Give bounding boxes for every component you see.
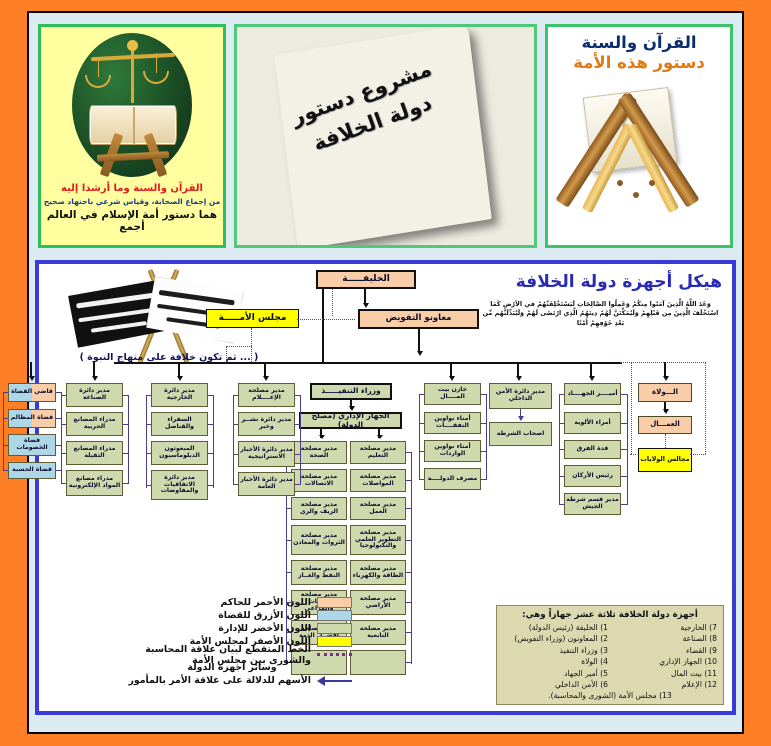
node-foreign-item-2[interactable]: مدير دائرة الاتفاقيات والمفاوضات <box>151 470 208 500</box>
node-jihad-head[interactable]: أميــــر الجهــــاد <box>564 383 621 405</box>
idari-rbus-1 <box>406 480 412 481</box>
legend-row-arrow: الأسهم للدلالة على علاقة الأمر بالمأمور <box>112 674 352 687</box>
scales-knob <box>127 40 138 51</box>
node-jihaz-idari[interactable]: الجهاز الإداري (مصلح الدولة) <box>299 412 402 429</box>
color-legend: اللون الأحمر للحاكم اللون الأزرق للقضاة … <box>112 596 352 687</box>
node-media-item-2[interactable]: مدير دائرة الأخبار العامة <box>238 472 295 496</box>
judiciary-right-bus <box>61 392 62 471</box>
scales-string-left <box>156 53 157 73</box>
judiciary-rbus-2 <box>56 445 62 446</box>
right-panel-title-1: القرآن والسنة <box>581 33 696 52</box>
baytmal-bus-h2 <box>481 451 487 452</box>
idari-lbus-4 <box>286 572 291 573</box>
agencies-legend: أجهزة دولة الخلافة ثلاثة عشر جهازاً وهي:… <box>496 605 724 705</box>
legend-swatch-judges <box>317 610 352 621</box>
node-industry-item-2[interactable]: مدراء مصانع المواد الإلكترونية <box>66 470 123 496</box>
foreign-lbus-2 <box>146 453 151 454</box>
baytmal-right-bus <box>419 394 420 479</box>
edge-khalifa-majlis-v <box>332 289 333 316</box>
judiciary-rbus-3 <box>56 470 62 471</box>
stand-dot-3 <box>649 180 655 186</box>
accountability-bus-right <box>705 362 706 454</box>
arrow-wilayat <box>663 376 669 381</box>
agency-item: 8) الصناعة <box>612 633 717 644</box>
node-idari-l2[interactable]: مدير مصلحة الريف والري <box>291 497 347 520</box>
edge-khalifa-spine <box>322 289 324 363</box>
edge-majlis-left-v <box>226 346 227 362</box>
header-right-panel: القرآن والسنة دستور هذه الأمة <box>545 24 733 248</box>
agency-item-13: 13) مجلس الأمة (الشورى والمحاسبة). <box>503 691 717 700</box>
agencies-col-right: 1) الخليفة (رئيس الدولة) 2) المعاونون (و… <box>503 622 608 690</box>
legend-label-cont: وسائر أجهزة الدولة <box>112 662 352 673</box>
foreign-rbus-3 <box>208 485 214 486</box>
baytmal-rbus-h3 <box>419 479 424 480</box>
arrow-foreign <box>177 376 183 381</box>
idari-rbus-5 <box>406 602 412 603</box>
scales-post <box>131 45 134 103</box>
jihad-rbus-h2 <box>559 449 564 450</box>
jihad-rbus-h4 <box>559 504 564 505</box>
industry-rbus-2 <box>123 453 129 454</box>
book-stand-icon <box>91 135 175 175</box>
node-ummal[interactable]: العمـــال <box>638 416 692 434</box>
left-panel-caption-blue: من إجماع الصحابة، وقياس شرعي باجتهاد صحي… <box>44 197 221 206</box>
main-spine <box>114 362 622 364</box>
node-jihad-item-3[interactable]: مدير قسم شرطة الجيش <box>564 493 621 515</box>
foreign-rbus-1 <box>208 424 214 425</box>
baytmal-rbus-h2 <box>419 451 424 452</box>
foreign-right-bus <box>213 395 214 488</box>
agency-item: 2) المعاونون (وزراء التفويض) <box>503 633 608 644</box>
legend-label: اللون الأخضر للإدارة <box>218 623 311 634</box>
baytmal-left-bus <box>486 394 487 479</box>
legend-row: الخط المتقطع لبيان علاقة المحاسبة والشور… <box>112 648 352 661</box>
node-judiciary-item-0[interactable]: قضاة المظالم <box>8 409 56 428</box>
legend-label: اللون الأزرق للقضاة <box>218 610 311 621</box>
node-majlis-umma[interactable]: مجلس الأمـــــة <box>206 309 299 328</box>
right-panel-title-2: دستور هذه الأمة <box>573 53 705 72</box>
media-lbus-3 <box>233 484 238 485</box>
node-wilayat-head[interactable]: الـــولاة <box>638 383 692 402</box>
left-panel-caption-red: القرآن والسنة وما أرشدا إليه <box>61 183 203 195</box>
header-center-panel: مشروع دستور دولة الخلافة <box>234 24 537 248</box>
legend-dotted-line-sample <box>317 653 352 656</box>
scales-and-quran-emblem-icon <box>57 31 207 181</box>
node-judiciary-item-2[interactable]: قضاة الحسبة <box>8 462 56 479</box>
idari-rbus-2 <box>406 508 412 509</box>
arrow-security <box>516 376 522 381</box>
media-rbus-3 <box>295 484 301 485</box>
header-left-panel: القرآن والسنة وما أرشدا إليه من إجماع ال… <box>38 24 226 248</box>
node-idari-r6[interactable]: مدير مصلحة التابعية <box>350 620 406 645</box>
jihad-bus-h2 <box>621 449 628 450</box>
node-industry-head[interactable]: مدير دائرة الصناعة <box>66 383 123 407</box>
agency-item: 1) الخليفة (رئيس الدولة) <box>503 622 608 633</box>
node-industry-item-1[interactable]: مدراء المصانع الثقيلة <box>66 441 123 465</box>
main-spine-dotted <box>620 362 704 363</box>
media-lbus-0 <box>233 395 238 396</box>
node-jihad-item-2[interactable]: رئيس الأركان <box>564 465 621 487</box>
legend-arrow-sample-icon <box>317 676 352 686</box>
foreign-lbus-3 <box>146 485 151 486</box>
agencies-col-left: 7) الخارجية 8) الصناعة 9) القضاء 10) الج… <box>612 622 717 690</box>
node-security-item-0[interactable]: اصحاب الشرطة <box>489 422 552 446</box>
media-left-bus <box>233 395 234 485</box>
media-lbus-1 <box>233 424 238 425</box>
legend-row: اللون الأخضر للإدارة <box>112 622 352 635</box>
industry-lbus-3 <box>61 483 66 484</box>
node-idari-l4[interactable]: مدير مصلحة النفط والغــاز <box>291 560 347 585</box>
node-baytmal-item-0[interactable]: أمناء نواوين النفقــــات <box>424 412 481 434</box>
node-idari-l3[interactable]: مدير مصلحة الثروات والمعادن <box>291 525 347 555</box>
jihad-bus-h0 <box>621 394 628 395</box>
node-media-item-0[interactable]: مدير دائرة نشــر وخبر <box>238 412 295 436</box>
agencies-legend-title: أجهزة دولة الخلافة ثلاثة عشر جهازاً وهي: <box>503 610 717 620</box>
node-foreign-item-0[interactable]: السفراء والقناصل <box>151 412 208 436</box>
node-idari-r2[interactable]: مدير مصلحة العمل <box>350 497 406 520</box>
node-muawinu-tafwid[interactable]: معاونو التفويض <box>358 309 479 329</box>
node-idari-r4[interactable]: مدير مصلحة الطاقة والكهرباء <box>350 560 406 585</box>
judiciary-lbus-3 <box>3 470 8 471</box>
stand-dot-2 <box>633 192 639 198</box>
node-khalifa[interactable]: الخليفـــــة <box>316 270 416 289</box>
arrow-ummal <box>663 409 669 414</box>
baytmal-bus-h1 <box>481 423 487 424</box>
node-idari-r7[interactable] <box>350 650 406 675</box>
arrow-jihad <box>589 376 595 381</box>
agency-item: 6) الأمن الداخلي <box>503 679 608 690</box>
node-wuzara-tanfidh[interactable]: وزراء التنفيـــــذ <box>310 383 392 400</box>
node-jihad-item-1[interactable]: قدة الفرق <box>564 440 621 459</box>
industry-right-bus <box>128 395 129 484</box>
foreign-rbus-0 <box>208 395 214 396</box>
idari-lbus-2 <box>286 508 291 509</box>
legend-row: اللون الأحمر للحاكم <box>112 596 352 609</box>
judiciary-left-bus <box>3 392 4 471</box>
agencies-legend-grid: 7) الخارجية 8) الصناعة 9) القضاء 10) الج… <box>503 622 717 690</box>
node-foreign-item-1[interactable]: المبعوثون الدبلوماسيون <box>151 441 208 465</box>
edge-majlis-muawinu-dotted <box>297 319 355 320</box>
judiciary-lbus-0 <box>3 392 8 393</box>
arrow-media <box>263 376 269 381</box>
node-baytmal-head[interactable]: خازن بيت المــــال <box>424 383 481 405</box>
legend-label-arrow: الأسهم للدلالة على علاقة الأمر بالمأمور <box>128 675 311 686</box>
legend-swatch-majlis <box>317 636 352 647</box>
arrow-judiciary <box>29 376 35 381</box>
node-judiciary-head[interactable]: قاضي القضاة <box>8 383 56 402</box>
scales-string-right <box>98 57 99 77</box>
arrow-police <box>518 416 524 421</box>
legend-swatch-admin <box>317 623 352 634</box>
edge-majlis-left <box>226 346 252 347</box>
arrow-muawinu-down <box>417 351 423 356</box>
quran-on-stand-icon <box>559 76 719 226</box>
node-media-item-1[interactable]: مدير دائرة الأخبار الاستراتيجية <box>238 441 295 467</box>
jihad-bus-h4 <box>621 504 628 505</box>
agency-item: 12) الإعلام <box>612 679 717 690</box>
node-idari-r3[interactable]: مدير مصلحة التطوير العلمي والتكنولوجيا <box>350 525 406 555</box>
arrow-baytmal <box>449 376 455 381</box>
idari-rbus-7 <box>406 662 412 663</box>
jihad-rbus-h0 <box>559 394 564 395</box>
agency-item: 5) أمير الجهاد <box>503 668 608 679</box>
node-industry-item-0[interactable]: مدراء المصانع الحربية <box>66 412 123 436</box>
node-media-head[interactable]: مدير مصلحة الإعــــلام <box>238 383 295 407</box>
accountability-bus-right-h <box>690 454 706 455</box>
judiciary-rbus-0 <box>56 392 62 393</box>
arrow-industry <box>92 376 98 381</box>
judiciary-lbus-1 <box>3 418 8 419</box>
agency-item: 4) الولاة <box>503 656 608 667</box>
edge-majlis-down <box>251 328 252 362</box>
baytmal-rbus-h0 <box>419 394 424 395</box>
legend-swatch-ruler <box>317 597 352 608</box>
arrow-jihaz-right-col <box>377 435 383 439</box>
node-idari-r5[interactable]: مدير مصلحة الأراضي <box>350 590 406 615</box>
judiciary-lbus-2 <box>3 445 8 446</box>
edge-ummal-majalis <box>665 434 666 448</box>
foreign-rbus-2 <box>208 453 214 454</box>
node-judiciary-item-1[interactable]: قضاة الخصومات <box>8 434 56 456</box>
agency-item: 9) القضاء <box>612 645 717 656</box>
stand-dot-1 <box>617 180 623 186</box>
agency-item: 3) وزراء التنفيذ <box>503 645 608 656</box>
edge-muawinu-down <box>418 329 420 353</box>
judiciary-rbus-1 <box>56 418 62 419</box>
foreign-lbus-1 <box>146 424 151 425</box>
idari-rbus-6 <box>406 632 412 633</box>
accountability-bus-jihad <box>631 362 632 454</box>
left-panel-caption-black: هما دستور أمة الإسلام في العالم أجمع <box>41 209 223 233</box>
header-band: القرآن والسنة دستور هذه الأمة مشروع دستو… <box>34 18 737 256</box>
arrow-jihaz-left-col <box>319 435 325 439</box>
legend-label: اللون الأحمر للحاكم <box>221 597 311 608</box>
jihad-bus-h3 <box>621 476 628 477</box>
paper-wrap: مشروع دستور دولة الخلافة <box>237 27 534 245</box>
jihad-rbus-h3 <box>559 476 564 477</box>
idari-rbus-4 <box>406 572 412 573</box>
idari-lbus-3 <box>286 540 291 541</box>
agency-item: 10) الجهاز الإداري <box>612 656 717 667</box>
baytmal-rbus-h1 <box>419 423 424 424</box>
jihad-bus-h1 <box>621 423 628 424</box>
node-majalis-wilayat[interactable]: مجالس الولايات <box>638 448 692 472</box>
industry-rbus-3 <box>123 483 129 484</box>
legend-row-cont: وسائر أجهزة الدولة <box>112 661 352 674</box>
idari-rbus-0 <box>406 452 412 453</box>
media-lbus-2 <box>233 454 238 455</box>
node-idari-r0[interactable]: مدير مصلحة التعليم <box>350 441 406 464</box>
agency-item: 7) الخارجية <box>612 622 717 633</box>
foreign-left-bus <box>146 395 147 488</box>
legend-row: اللون الأزرق للقضاة <box>112 609 352 622</box>
node-jihad-item-0[interactable]: أمراء الألوية <box>564 412 621 434</box>
node-baytmal-item-2[interactable]: مصرف الدولــــة <box>424 468 481 490</box>
industry-rbus-0 <box>123 395 129 396</box>
media-right-bus <box>300 395 301 485</box>
media-rbus-1 <box>295 424 301 425</box>
idari-rbus-3 <box>406 540 412 541</box>
arrow-khalifa-muawinu <box>363 303 369 308</box>
baytmal-bus-h0 <box>481 394 487 395</box>
baytmal-bus-h3 <box>481 479 487 480</box>
node-security-head[interactable]: مدير دائرة الأمن الداخلي <box>489 383 552 409</box>
node-baytmal-item-1[interactable]: أمناء نواوين الواردات <box>424 440 481 462</box>
industry-rbus-1 <box>123 424 129 425</box>
jihad-rbus-h1 <box>559 423 564 424</box>
node-idari-r1[interactable]: مدير مصلحة المواصلات <box>350 469 406 492</box>
media-rbus-2 <box>295 454 301 455</box>
quran-verse-text: وَعَدَ اللَّهُ الَّذِينَ آمَنُوا مِنكُمْ… <box>478 300 723 328</box>
agency-item: 11) بيت المال <box>612 668 717 679</box>
node-foreign-head[interactable]: مدير دائرة الخارجية <box>151 383 208 407</box>
accountability-bus-jihad-h <box>630 454 636 455</box>
media-rbus-0 <box>295 395 301 396</box>
chart-title: هيكل أجهزة دولة الخلافة <box>516 272 722 292</box>
foreign-lbus-0 <box>146 395 151 396</box>
